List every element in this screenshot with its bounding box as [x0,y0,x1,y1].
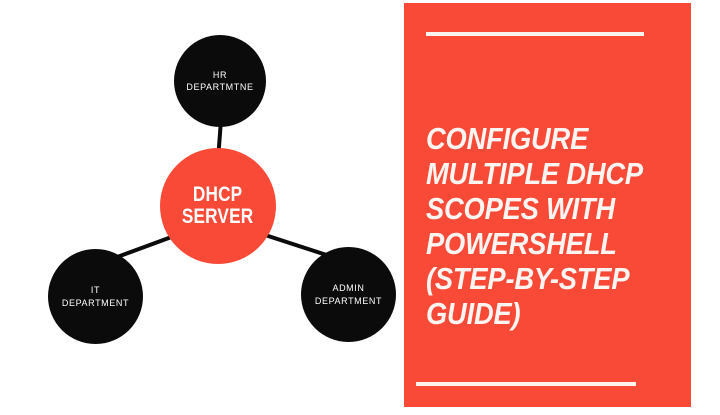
title-panel: Configure Multiple DHCP Scopes with Powe… [404,3,691,407]
title-divider-bottom [416,382,636,386]
node-hr-department[interactable]: HR DEPARTMTNE [174,35,266,127]
title-divider-top [426,32,644,36]
node-dhcp-server-label: DHCP SERVER [182,184,253,228]
page-title: Configure Multiple DHCP Scopes with Powe… [426,121,653,331]
node-hr-department-label: HR DEPARTMTNE [182,69,257,93]
dhcp-network-diagram: HR DEPARTMTNE DHCP SERVER IT DEPARTMENT … [0,0,400,415]
node-admin-department-label: ADMIN DEPARTMENT [311,282,386,306]
node-dhcp-server[interactable]: DHCP SERVER [160,148,276,264]
screenshot-canvas: HR DEPARTMTNE DHCP SERVER IT DEPARTMENT … [0,0,720,415]
node-admin-department[interactable]: ADMIN DEPARTMENT [301,247,396,342]
node-it-department-label: IT DEPARTMENT [58,284,133,308]
node-it-department[interactable]: IT DEPARTMENT [48,249,143,344]
